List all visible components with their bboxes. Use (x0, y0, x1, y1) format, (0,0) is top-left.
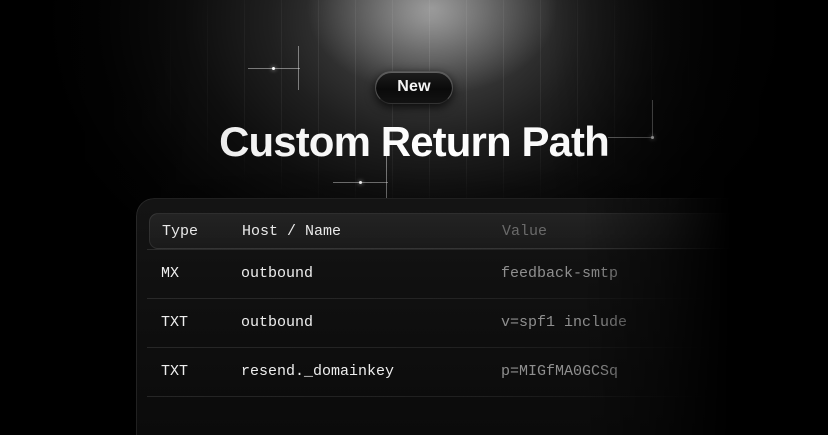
cell-value: p=MIGfMA0GCSq (501, 363, 743, 380)
hero-stage: New Custom Return Path Type Host / Name … (0, 0, 828, 435)
cell-host: outbound (241, 265, 501, 282)
table-row-partial[interactable] (137, 396, 755, 435)
cell-type: TXT (161, 363, 241, 380)
cell-type: TXT (161, 314, 241, 331)
column-header-type: Type (162, 223, 242, 240)
cell-host: outbound (241, 314, 501, 331)
column-header-host: Host / Name (242, 223, 502, 240)
hero-section: New Custom Return Path (0, 0, 828, 164)
table-row[interactable]: TXT resend._domainkey p=MIGfMA0GCSq (137, 347, 755, 396)
page-title: Custom Return Path (0, 119, 828, 164)
cell-value: v=spf1 include (501, 314, 743, 331)
table-row[interactable]: MX outbound feedback-smtp (137, 249, 755, 298)
column-header-value: Value (502, 223, 730, 240)
cell-host: resend._domainkey (241, 363, 501, 380)
table-row[interactable]: TXT outbound v=spf1 include (137, 298, 755, 347)
new-badge: New (375, 71, 453, 104)
dns-table-header: Type Host / Name Value (149, 213, 743, 249)
cell-value: feedback-smtp (501, 265, 743, 282)
cell-type: MX (161, 265, 241, 282)
dns-records-card: Type Host / Name Value MX outbound feedb… (136, 198, 756, 435)
